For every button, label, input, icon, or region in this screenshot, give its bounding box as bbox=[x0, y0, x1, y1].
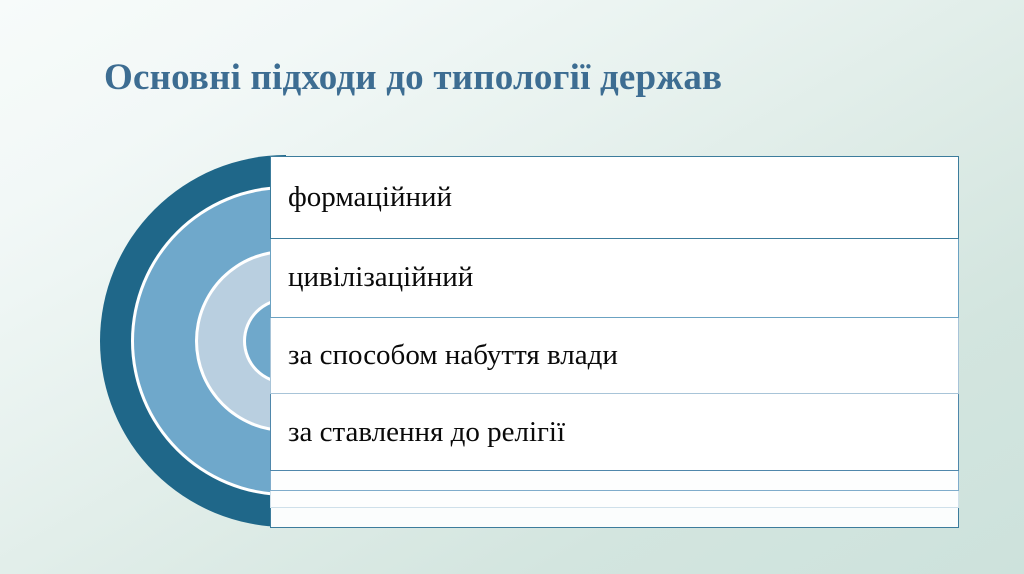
table-row-label: цивілізаційний bbox=[288, 261, 473, 294]
table-row-label: формаційний bbox=[288, 181, 452, 214]
table-row[interactable]: за ставлення до релігії bbox=[270, 394, 959, 472]
table-row[interactable]: формаційний bbox=[270, 156, 959, 239]
table-row[interactable]: за способом набуття влади bbox=[270, 318, 959, 394]
table-row[interactable] bbox=[270, 491, 959, 508]
table-row-label: за способом набуття влади bbox=[288, 339, 618, 372]
table-row-label: за ставлення до релігії bbox=[288, 416, 565, 449]
slide-canvas: Основні підходи до типології держав форм… bbox=[0, 0, 1024, 574]
outer-ring-arc bbox=[100, 155, 286, 527]
second-ring-arc bbox=[134, 189, 286, 493]
second-ring-separator bbox=[131, 186, 286, 496]
table-row[interactable] bbox=[270, 508, 959, 528]
page-title: Основні підходи до типології держав bbox=[104, 55, 904, 101]
table-row[interactable] bbox=[270, 471, 959, 491]
table-row[interactable]: цивілізаційний bbox=[270, 239, 959, 319]
approaches-table: формаційний цивілізаційний за способом н… bbox=[270, 156, 959, 528]
